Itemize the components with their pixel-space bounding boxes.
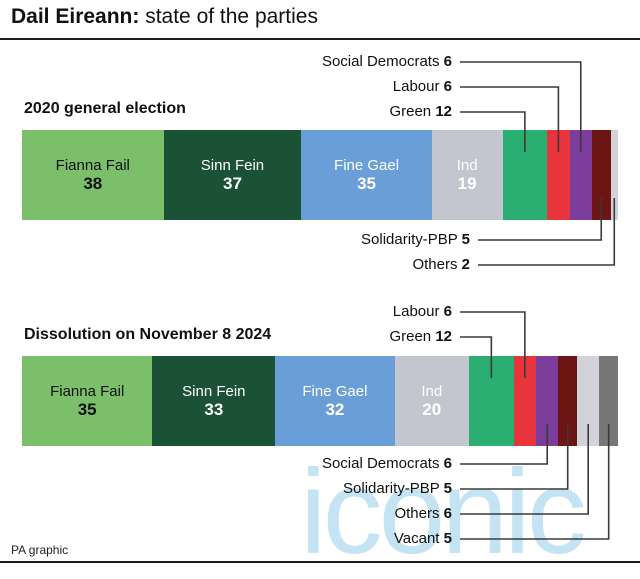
- bar-segment-value: 35: [357, 174, 376, 193]
- bar-segment-label: Ind: [457, 157, 478, 174]
- bar-segment-value: 37: [223, 174, 242, 193]
- leader-lines: [0, 0, 640, 570]
- chart2-stacked-bar: Fianna Fail35Sinn Fein33Fine Gael32Ind20: [22, 356, 618, 446]
- bar-segment-ind: Ind20: [395, 356, 470, 446]
- bar-segment-value: 19: [458, 174, 477, 193]
- bar-segment-value: 33: [204, 400, 223, 419]
- bar-segment-solidarity-pbp: [592, 130, 611, 220]
- bar-segment-green: [469, 356, 514, 446]
- chart2-callout-others: Others 6: [394, 505, 452, 522]
- bar-segment-others: [611, 130, 618, 220]
- chart2-callout-solidarity-pbp: Solidarity-PBP 5: [343, 480, 452, 497]
- bar-segment-labour: [547, 130, 569, 220]
- bar-segment-fianna-fail: Fianna Fail35: [22, 356, 152, 446]
- chart2-callout-social-democrats: Social Democrats 6: [322, 455, 452, 472]
- bar-segment-sinn-fein: Sinn Fein33: [152, 356, 275, 446]
- bar-segment-label: Fianna Fail: [50, 383, 124, 400]
- footer-divider: [0, 561, 640, 563]
- bar-segment-label: Fine Gael: [334, 157, 399, 174]
- bar-segment-solidarity-pbp: [558, 356, 577, 446]
- chart2-subtitle: Dissolution on November 8 2024: [24, 326, 271, 344]
- bar-segment-label: Sinn Fein: [182, 383, 245, 400]
- bar-segment-value: 38: [83, 174, 102, 193]
- bar-segment-social-democrats: [536, 356, 558, 446]
- chart1-subtitle: 2020 general election: [24, 100, 186, 118]
- bar-segment-label: Ind: [421, 383, 442, 400]
- bar-segment-value: 32: [325, 400, 344, 419]
- bar-segment-label: Sinn Fein: [201, 157, 264, 174]
- chart1-callout-solidarity-pbp: Solidarity-PBP 5: [361, 231, 470, 248]
- bar-segment-label: Fianna Fail: [56, 157, 130, 174]
- bar-segment-others: [577, 356, 599, 446]
- bar-segment-labour: [514, 356, 536, 446]
- bar-segment-value: 35: [78, 400, 97, 419]
- chart2-callout-vacant: Vacant 5: [394, 530, 452, 547]
- page-title: Dail Eireann: state of the parties: [11, 4, 318, 30]
- chart2-callout-green: Green 12: [389, 328, 452, 345]
- chart1-callout-others: Others 2: [412, 256, 470, 273]
- bar-segment-fine-gael: Fine Gael32: [275, 356, 394, 446]
- bar-segment-label: Fine Gael: [302, 383, 367, 400]
- footer-credit: PA graphic: [11, 543, 68, 557]
- page-title-bold: Dail Eireann:: [11, 5, 139, 28]
- bar-segment-vacant: [599, 356, 618, 446]
- bar-segment-ind: Ind19: [432, 130, 503, 220]
- bar-segment-sinn-fein: Sinn Fein37: [164, 130, 302, 220]
- header-divider: [0, 38, 640, 40]
- chart1-callout-labour: Labour 6: [393, 78, 452, 95]
- chart1-stacked-bar: Fianna Fail38Sinn Fein37Fine Gael35Ind19: [22, 130, 618, 220]
- chart1-callout-social-democrats: Social Democrats 6: [322, 53, 452, 70]
- page-title-regular: state of the parties: [139, 5, 318, 28]
- chart1-callout-green: Green 12: [389, 103, 452, 120]
- bar-segment-social-democrats: [570, 130, 592, 220]
- bar-segment-fine-gael: Fine Gael35: [301, 130, 431, 220]
- bar-segment-green: [503, 130, 548, 220]
- bar-segment-fianna-fail: Fianna Fail38: [22, 130, 164, 220]
- chart2-callout-labour: Labour 6: [393, 303, 452, 320]
- bar-segment-value: 20: [422, 400, 441, 419]
